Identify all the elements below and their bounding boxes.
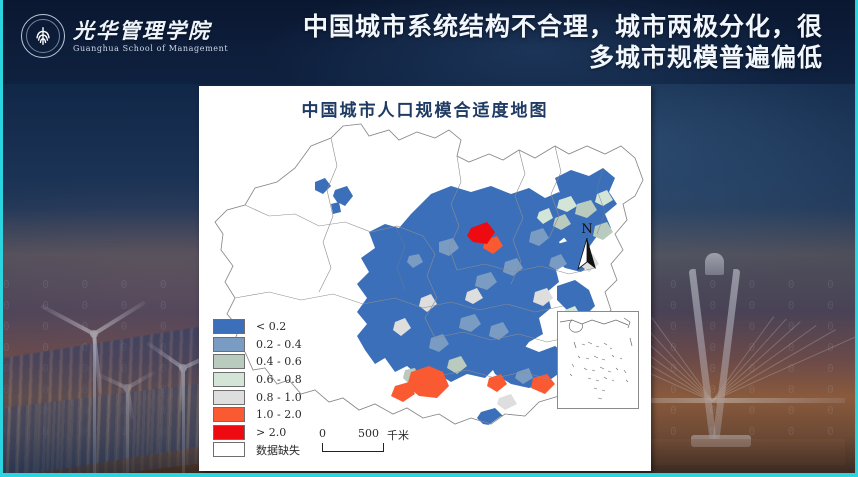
scale-start-label: 0 [319,427,326,440]
legend-label: 0.8 - 1.0 [256,391,302,404]
legend-swatch [213,407,245,422]
legend-label: 1.0 - 2.0 [256,408,302,421]
legend-label: < 0.2 [256,320,286,333]
legend-swatch [213,319,245,334]
legend-item: 0.6 - 0.8 [213,371,302,389]
legend-item: > 2.0 [213,424,302,442]
north-arrow-icon [576,237,598,271]
legend-label: 数据缺失 [256,442,300,458]
scale-unit-label: 千米 [387,427,409,443]
legend-label: > 2.0 [256,426,286,439]
south-china-sea-inset [557,311,639,409]
legend-label: 0.4 - 0.6 [256,355,302,368]
page-title-line-1: 中国城市系统结构不合理，城市两极分化，很 [203,11,823,42]
university-seal-icon [21,14,65,58]
page-title-line-2: 多城市规模普遍偏低 [203,42,823,73]
legend-swatch [213,390,245,405]
wind-turbine-icon [99,370,155,473]
north-arrow: N [570,224,604,271]
brand-lockup: 光华管理学院 Guanghua School of Management [21,14,228,58]
bridge-pylon-top [705,253,724,275]
legend-item: 1.0 - 2.0 [213,406,302,424]
map-figure-panel: 中国城市人口规模合适度地图 .c0{fill:#3b6fba} /* < 0.2… [199,86,651,471]
legend-swatch [213,337,245,352]
scale-end-label: 500 [358,427,379,440]
legend-swatch [213,442,245,457]
slide-header: 光华管理学院 Guanghua School of Management 中国城… [3,0,858,84]
legend-item: 0.4 - 0.6 [213,353,302,371]
map-legend: < 0.2 0.2 - 0.4 0.4 - 0.6 0.6 - 0.8 0.8 … [213,318,302,459]
scale-bar-line [322,443,384,452]
presentation-slide: 0 0 0 0 0 0 0 0 0 0 0 0 0 0 0 0 0 0 0 0 … [0,0,858,477]
page-title: 中国城市系统结构不合理，城市两极分化，很 多城市规模普遍偏低 [203,11,823,73]
legend-swatch [213,354,245,369]
map-scale-bar: 0 500 千米 [319,427,415,452]
legend-swatch [213,372,245,387]
legend-item: 0.8 - 1.0 [213,388,302,406]
legend-item: < 0.2 [213,318,302,336]
legend-swatch [213,425,245,440]
legend-label: 0.2 - 0.4 [256,338,302,351]
legend-item: 数据缺失 [213,441,302,459]
legend-item: 0.2 - 0.4 [213,336,302,354]
north-arrow-label: N [570,224,604,236]
legend-label: 0.6 - 0.8 [256,373,302,386]
